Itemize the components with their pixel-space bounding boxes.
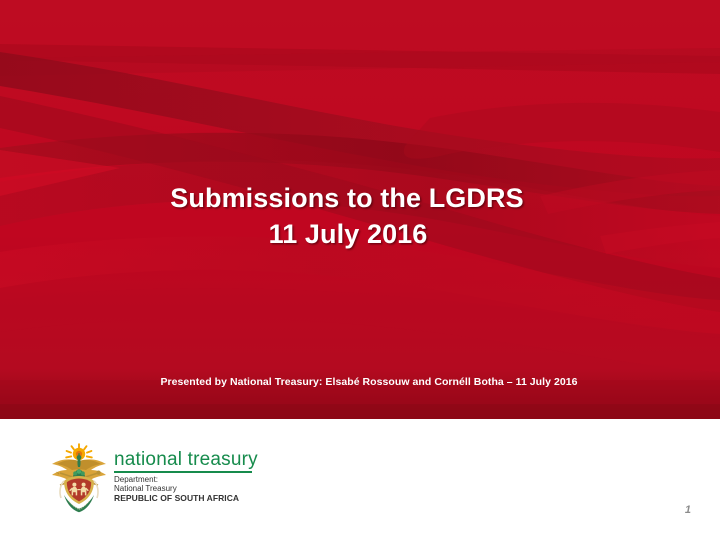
logo-divider-rule bbox=[114, 471, 252, 473]
presentation-slide: Submissions to the LGDRS 11 July 2016 Pr… bbox=[0, 0, 720, 540]
title-line-2: 11 July 2016 bbox=[0, 216, 720, 252]
logo-text-block: national treasury Department: National T… bbox=[114, 443, 258, 503]
red-banner-background: Submissions to the LGDRS 11 July 2016 Pr… bbox=[0, 0, 720, 419]
slide-title: Submissions to the LGDRS 11 July 2016 bbox=[0, 180, 720, 252]
south-african-coat-of-arms-icon bbox=[48, 443, 110, 515]
logo-department-line-1: Department: bbox=[114, 475, 258, 485]
title-line-1: Submissions to the LGDRS bbox=[0, 180, 720, 216]
logo-department-line-3: REPUBLIC OF SOUTH AFRICA bbox=[114, 494, 258, 504]
logo-wordmark: national treasury bbox=[114, 449, 258, 470]
presenter-credit: Presented by National Treasury: Elsabé R… bbox=[0, 376, 720, 388]
page-number: 1 bbox=[685, 504, 691, 516]
national-treasury-logo: national treasury Department: National T… bbox=[48, 443, 258, 515]
slide-footer: national treasury Department: National T… bbox=[0, 419, 720, 540]
